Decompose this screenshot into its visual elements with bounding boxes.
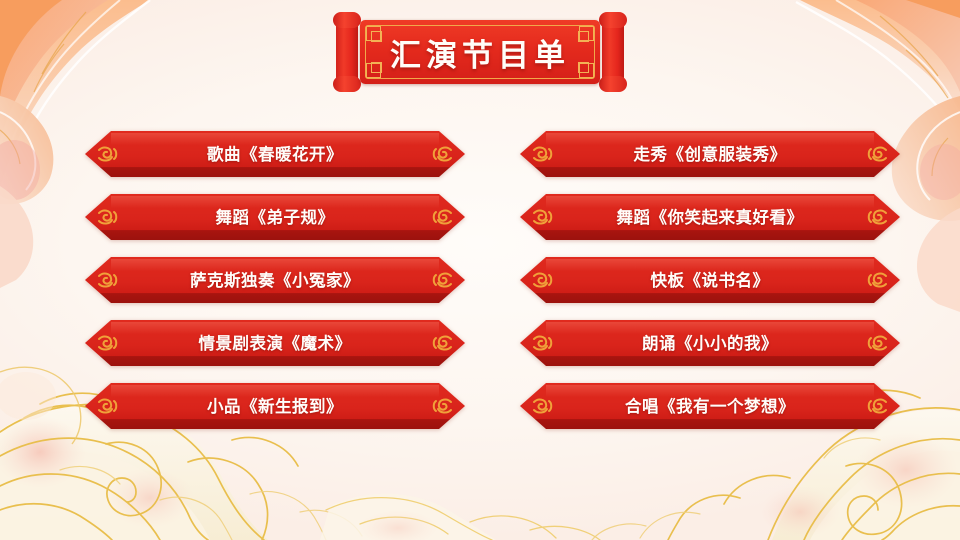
program-item[interactable]: 合唱《我有一个梦想》 <box>520 383 900 429</box>
page-title: 汇演节目单 <box>360 20 600 84</box>
program-item-label: 舞蹈《你笑起来真好看》 <box>520 194 900 240</box>
title-post-left <box>336 14 358 90</box>
program-item[interactable]: 舞蹈《弟子规》 <box>85 194 465 240</box>
program-item-label: 朗诵《小小的我》 <box>520 320 900 366</box>
program-item[interactable]: 萨克斯独奏《小冤家》 <box>85 257 465 303</box>
program-column-left: 歌曲《春暖花开》 舞蹈《弟子规》 萨克斯独奏《小冤家》 情景剧表演《魔术》 <box>85 131 465 446</box>
title-post-right <box>602 14 624 90</box>
program-item[interactable]: 走秀《创意服装秀》 <box>520 131 900 177</box>
program-item-label: 情景剧表演《魔术》 <box>85 320 465 366</box>
program-item-label: 歌曲《春暖花开》 <box>85 131 465 177</box>
program-item[interactable]: 歌曲《春暖花开》 <box>85 131 465 177</box>
program-list-poster: 汇演节目单 歌曲《春暖花开》 舞蹈《弟子规》 萨克斯独奏《小冤家》 <box>0 0 960 540</box>
left-edge-flourish <box>0 367 81 444</box>
title-plate: 汇演节目单 <box>360 20 600 84</box>
program-item-label: 合唱《我有一个梦想》 <box>520 383 900 429</box>
bottom-center-cloud-art <box>320 494 600 540</box>
program-item[interactable]: 朗诵《小小的我》 <box>520 320 900 366</box>
program-item[interactable]: 小品《新生报到》 <box>85 383 465 429</box>
program-item-label: 快板《说书名》 <box>520 257 900 303</box>
program-item-label: 舞蹈《弟子规》 <box>85 194 465 240</box>
title-banner: 汇演节目单 <box>336 14 624 90</box>
program-item-label: 走秀《创意服装秀》 <box>520 131 900 177</box>
program-item-label: 萨克斯独奏《小冤家》 <box>85 257 465 303</box>
program-item[interactable]: 情景剧表演《魔术》 <box>85 320 465 366</box>
program-column-right: 走秀《创意服装秀》 舞蹈《你笑起来真好看》 快板《说书名》 朗诵《小小的我》 <box>520 131 900 446</box>
program-item-label: 小品《新生报到》 <box>85 383 465 429</box>
program-item[interactable]: 舞蹈《你笑起来真好看》 <box>520 194 900 240</box>
program-item[interactable]: 快板《说书名》 <box>520 257 900 303</box>
